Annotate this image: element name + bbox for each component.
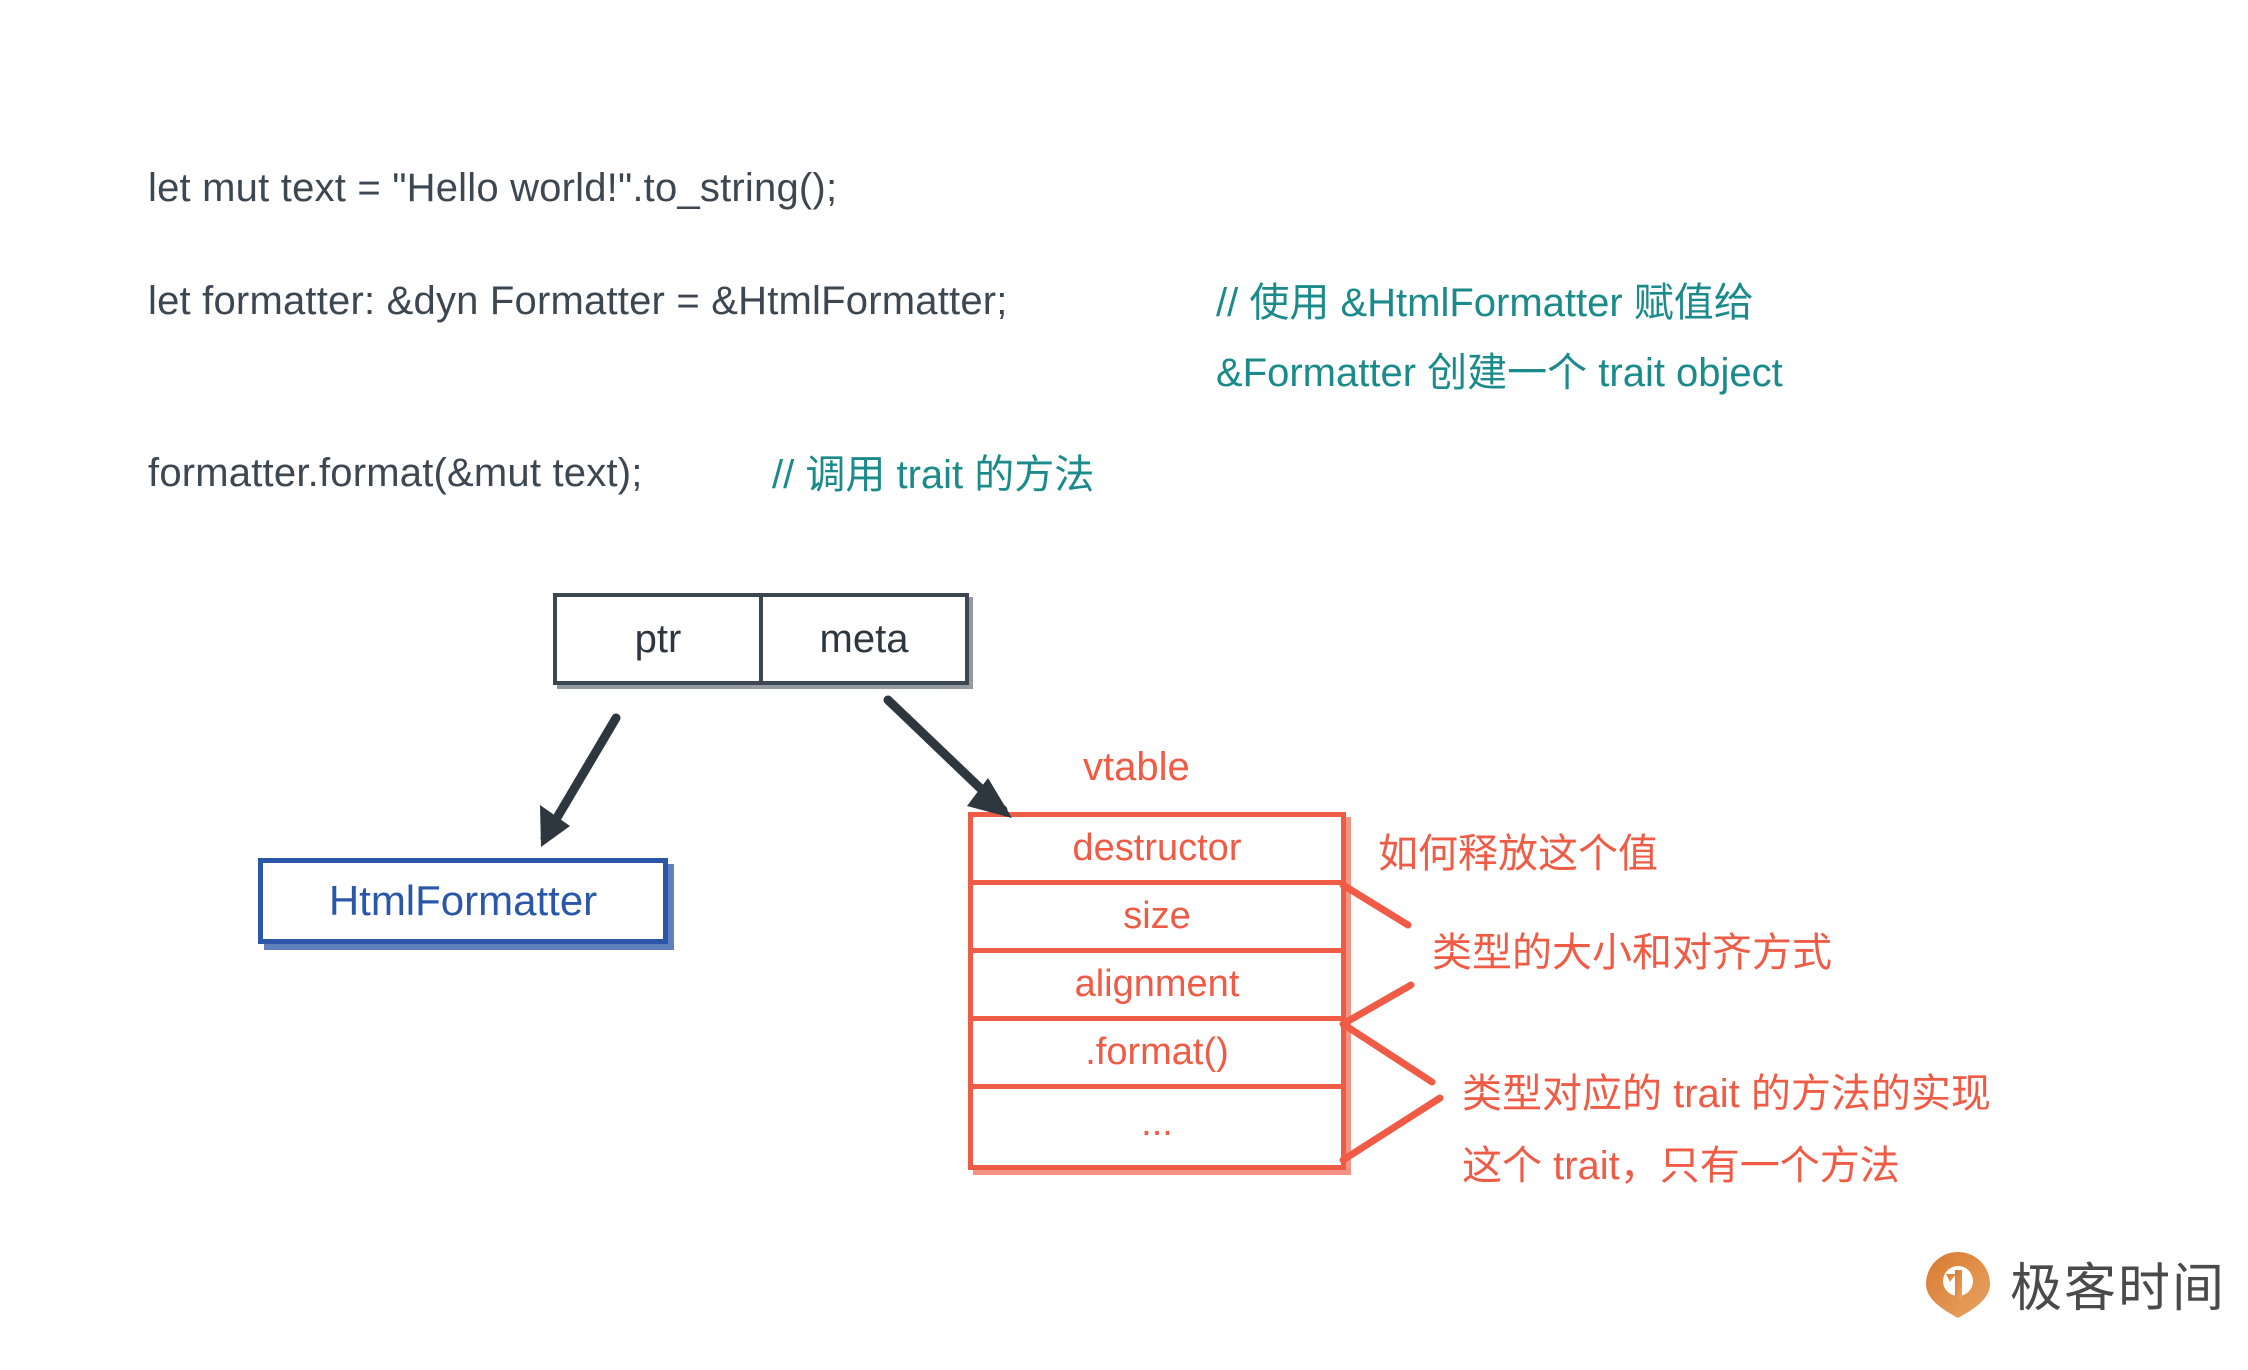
code-line-3: formatter.format(&mut text); [148, 450, 643, 496]
code-comment-3: // 调用 trait 的方法 [772, 450, 1094, 500]
vtable-row: size [973, 885, 1341, 953]
vtable-row: destructor [973, 817, 1341, 885]
annotation-destructor: 如何释放这个值 [1378, 828, 1658, 880]
vtable-row: alignment [973, 953, 1341, 1021]
annotation-size-alignment: 类型的大小和对齐方式 [1432, 927, 1832, 979]
arrow-ptr-to-impl [540, 718, 616, 847]
geektime-logo-icon [1922, 1248, 1994, 1320]
annotation-trait-impl: 类型对应的 trait 的方法的实现 [1462, 1068, 1991, 1120]
connector-others [1343, 1098, 1440, 1160]
vtable-box: destructor size alignment .format() ... [968, 812, 1346, 1170]
connector-destructor [1343, 885, 1408, 925]
arrow-meta-to-vtable [888, 700, 1012, 818]
fat-pointer-meta-cell: meta [761, 593, 969, 685]
geektime-logo-text: 极客时间 [2010, 1246, 2226, 1321]
code-comment-2-line-1: // 使用 &HtmlFormatter 赋值给 [1216, 278, 1754, 328]
code-comment-2-line-2: &Formatter 创建一个 trait object [1216, 348, 1783, 398]
annotation-single-method: 这个 trait，只有一个方法 [1462, 1140, 1900, 1192]
fat-pointer-ptr-cell: ptr [553, 593, 761, 685]
geektime-logo: 极客时间 [1922, 1246, 2226, 1321]
slide-canvas: let mut text = "Hello world!".to_string(… [0, 0, 2248, 1370]
connector-alignment [1343, 1024, 1432, 1082]
code-line-2: let formatter: &dyn Formatter = &HtmlFor… [148, 278, 1008, 324]
code-line-1: let mut text = "Hello world!".to_string(… [148, 165, 837, 211]
html-formatter-box: HtmlFormatter [258, 858, 668, 944]
vtable-label: vtable [1083, 745, 1190, 790]
fat-pointer-box: ptr meta [553, 593, 969, 685]
vtable-row: .format() [973, 1021, 1341, 1089]
vtable-row: ... [973, 1089, 1341, 1157]
connector-size [1343, 985, 1411, 1024]
